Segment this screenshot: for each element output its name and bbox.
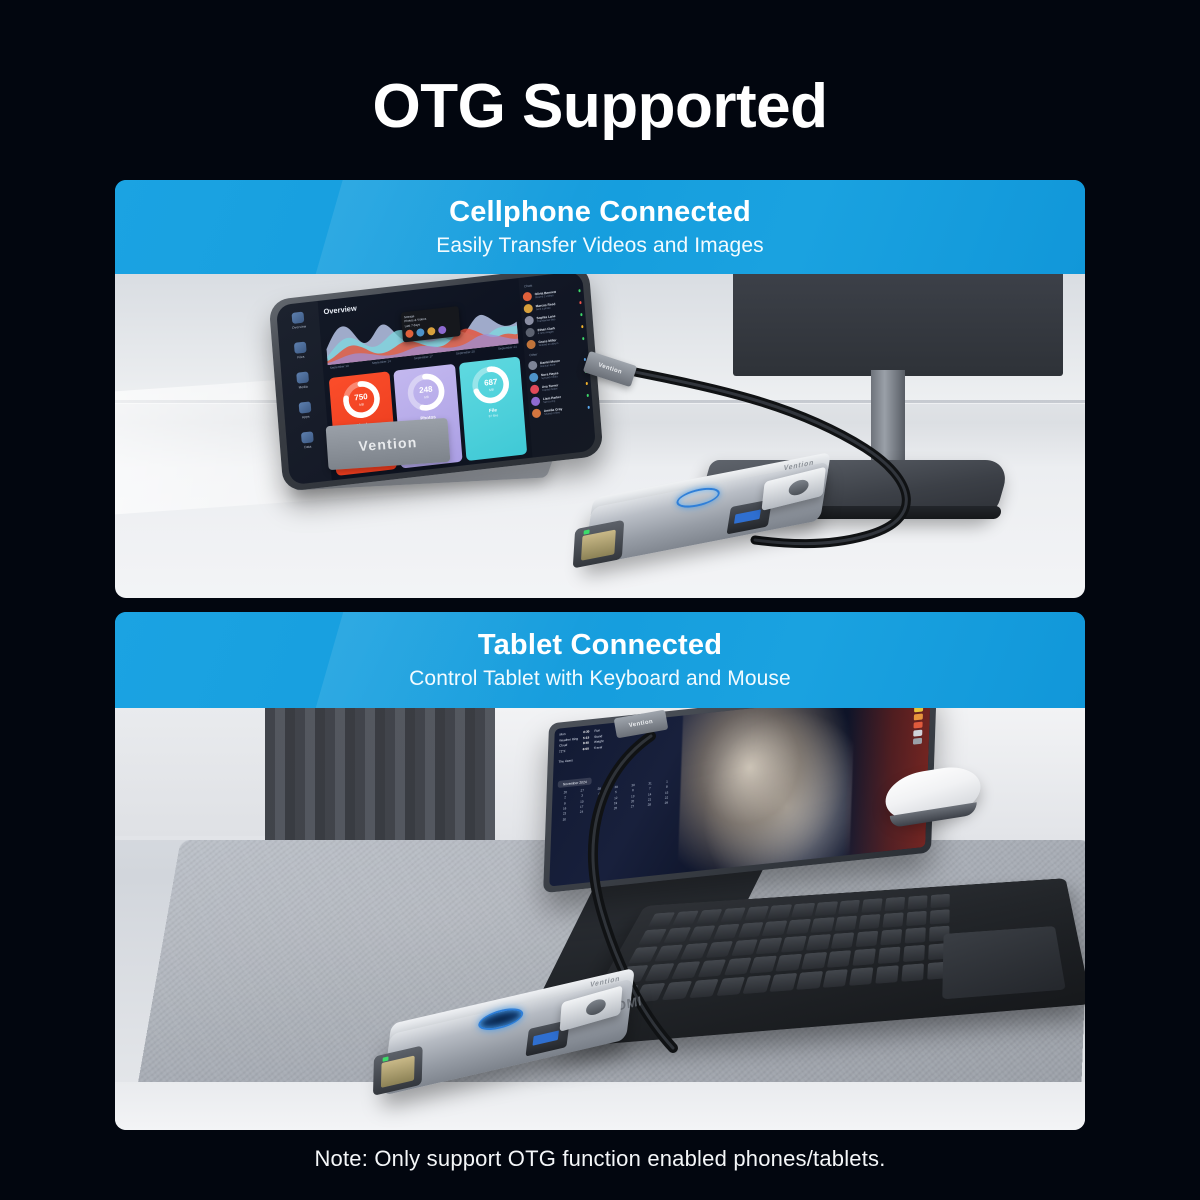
usb-a-tongue bbox=[734, 509, 761, 523]
axis-tick: September 24 bbox=[498, 345, 517, 351]
banner-subtitle-cellphone: Easily Transfer Videos and Images bbox=[115, 230, 1085, 262]
nav-item-media[interactable]: Media bbox=[285, 370, 320, 391]
status-dot bbox=[579, 301, 582, 304]
usb-a-tongue bbox=[532, 1030, 559, 1045]
page-title: OTG Supported bbox=[0, 74, 1200, 139]
donut-unit: MB bbox=[424, 394, 429, 399]
product-marketing-page: OTG Supported Cellphone Connected Easily… bbox=[0, 0, 1200, 1200]
dock-icon-yellow[interactable] bbox=[914, 708, 923, 712]
avatar bbox=[529, 372, 539, 382]
contact-text: Ethan Clark4 new images bbox=[537, 324, 578, 336]
avatar bbox=[525, 328, 535, 338]
avatar bbox=[416, 328, 425, 337]
nav-label: Overview bbox=[291, 325, 305, 330]
avatar bbox=[524, 316, 534, 326]
donut-unit: MB bbox=[359, 402, 364, 407]
nav-item-files[interactable]: Files bbox=[283, 340, 318, 361]
axis-tick: September 10 bbox=[330, 364, 349, 370]
axis-tick: September 14 bbox=[372, 359, 391, 365]
nav-item-data[interactable]: Data bbox=[290, 430, 325, 451]
donut-value-group: 248 MB bbox=[405, 370, 448, 414]
status-dot bbox=[581, 325, 584, 328]
donut-value: 750 bbox=[354, 392, 368, 401]
contact-text: Marcus ReedSent a photo bbox=[535, 300, 576, 312]
contact-text: Olivia BennettShared 2 videos bbox=[535, 288, 576, 300]
contact-text: Sophia LaneTransferred files bbox=[536, 312, 577, 324]
avatar bbox=[528, 360, 538, 370]
metric-card-file[interactable]: 687 MB File 87 files bbox=[459, 356, 528, 461]
donut-value: 687 bbox=[484, 378, 498, 387]
donut-chart-music: 750 MB bbox=[340, 377, 383, 421]
trackpad[interactable] bbox=[942, 926, 1065, 999]
avatar bbox=[531, 396, 541, 406]
curtain bbox=[265, 708, 495, 848]
status-dot bbox=[582, 337, 585, 340]
avatar bbox=[523, 292, 533, 302]
footer-note: Note: Only support OTG function enabled … bbox=[0, 1146, 1200, 1172]
photo-cellphone-scene: Overview Files Media Apps bbox=[115, 274, 1085, 598]
grid-icon bbox=[292, 312, 305, 324]
metric-card-sub: 87 files bbox=[489, 413, 499, 418]
panel-tablet-connected: Tablet Connected Control Tablet with Key… bbox=[115, 612, 1085, 1130]
avatar bbox=[405, 329, 414, 338]
nav-label: Files bbox=[297, 355, 305, 360]
banner-title-tablet: Tablet Connected bbox=[115, 627, 1085, 663]
panel-cellphone-connected: Cellphone Connected Easily Transfer Vide… bbox=[115, 180, 1085, 598]
chart-icon bbox=[301, 431, 314, 443]
avatar bbox=[427, 327, 436, 336]
avatar bbox=[526, 340, 536, 350]
donut-value-group: 750 MB bbox=[340, 377, 383, 421]
donut-chart-file: 687 MB bbox=[470, 363, 513, 407]
banner-title-cellphone: Cellphone Connected bbox=[115, 194, 1085, 230]
nav-label: Data bbox=[304, 445, 311, 450]
nav-item-overview[interactable]: Overview bbox=[281, 310, 316, 331]
brand-label: Vention bbox=[358, 434, 418, 454]
banner-tablet: Tablet Connected Control Tablet with Key… bbox=[115, 612, 1085, 708]
media-icon bbox=[296, 371, 309, 383]
donut-unit: MB bbox=[489, 387, 494, 392]
avatar bbox=[438, 326, 447, 335]
nav-label: Apps bbox=[302, 415, 310, 420]
donut-chart-photos: 248 MB bbox=[405, 370, 448, 414]
status-dot bbox=[580, 313, 583, 316]
apps-icon bbox=[299, 401, 312, 413]
status-dot bbox=[578, 289, 581, 292]
avatar bbox=[530, 384, 540, 394]
banner-cellphone: Cellphone Connected Easily Transfer Vide… bbox=[115, 180, 1085, 274]
nav-label: Media bbox=[299, 385, 309, 390]
axis-tick: September 17 bbox=[414, 354, 433, 360]
axis-tick: September 20 bbox=[456, 349, 475, 355]
usb-drive-ring bbox=[586, 997, 607, 1017]
phone-stand-brand-badge: Vention bbox=[326, 418, 451, 470]
donut-value: 248 bbox=[419, 385, 433, 394]
photo-tablet-scene: Mon Weather Ring Cloud 72°F 6:30 5:15 8:… bbox=[115, 708, 1085, 1130]
nav-item-apps[interactable]: Apps bbox=[288, 400, 323, 421]
donut-value-group: 687 MB bbox=[470, 363, 513, 407]
banner-subtitle-tablet: Control Tablet with Keyboard and Mouse bbox=[115, 663, 1085, 695]
keyboard-key[interactable] bbox=[929, 909, 949, 925]
wall-panel-left bbox=[115, 708, 273, 836]
avatar bbox=[523, 304, 533, 314]
keyboard-key[interactable] bbox=[930, 894, 950, 909]
avatar bbox=[532, 408, 542, 418]
folder-icon bbox=[294, 342, 307, 354]
usb-drive-ring bbox=[788, 478, 809, 497]
